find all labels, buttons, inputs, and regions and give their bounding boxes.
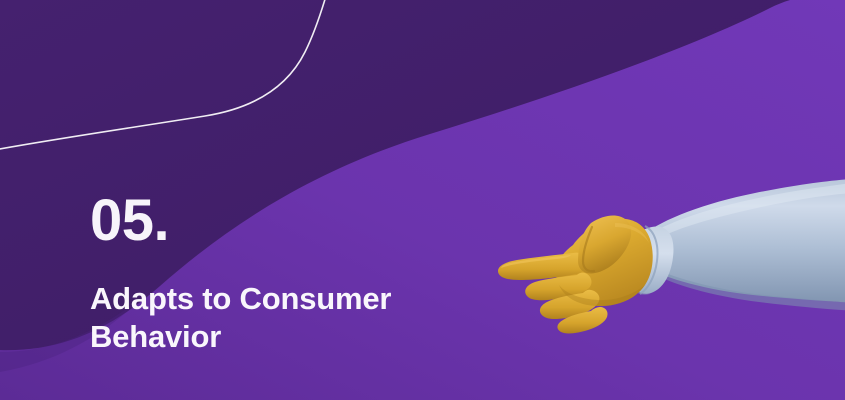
- sleeve-group: [643, 179, 845, 311]
- pointing-hand-icon: [495, 175, 845, 365]
- sleeve-forearm: [643, 179, 845, 303]
- slide-number-block: 05.: [90, 192, 169, 250]
- hand-group: [498, 216, 653, 334]
- page-title-number: 05.: [90, 192, 169, 250]
- slide-canvas: 05. Adapts to Consumer Behavior: [0, 0, 845, 400]
- page-title: Adapts to Consumer Behavior: [90, 280, 490, 356]
